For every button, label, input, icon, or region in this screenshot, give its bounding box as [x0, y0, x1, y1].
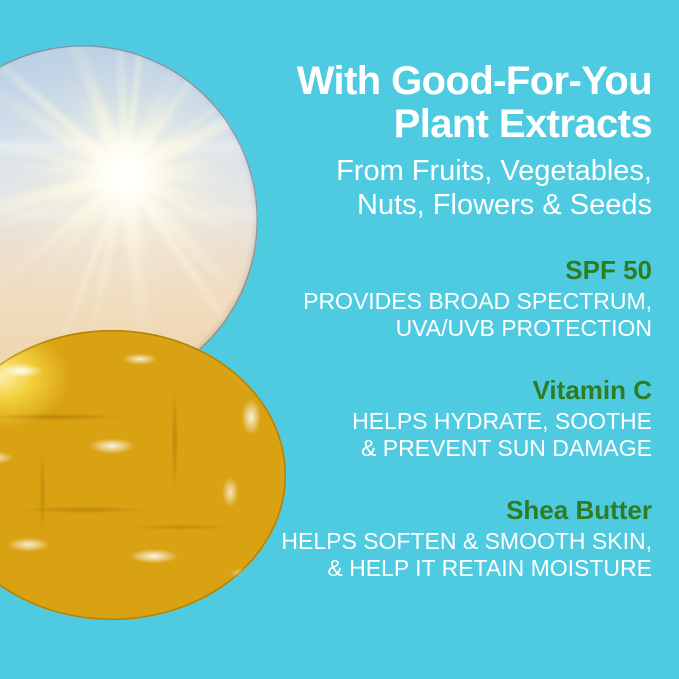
headline: With Good-For-You Plant Extracts — [260, 0, 652, 146]
subheadline-line-2: Nuts, Flowers & Seeds — [260, 189, 652, 223]
feature-spf-50: SPF 50 PROVIDES BROAD SPECTRUM, UVA/UVB … — [260, 256, 652, 342]
feature-title-shea-butter: Shea Butter — [260, 496, 652, 525]
feature-desc-line-2: & HELP IT RETAIN MOISTURE — [260, 555, 652, 582]
feature-title-vitamin-c: Vitamin C — [260, 376, 652, 405]
text-column: With Good-For-You Plant Extracts From Fr… — [260, 0, 652, 679]
feature-desc-line-1: HELPS SOFTEN & SMOOTH SKIN, — [260, 528, 652, 555]
feature-desc-line-2: & PREVENT SUN DAMAGE — [260, 435, 652, 462]
feature-shea-butter: Shea Butter HELPS SOFTEN & SMOOTH SKIN, … — [260, 496, 652, 582]
feature-description-shea-butter: HELPS SOFTEN & SMOOTH SKIN, & HELP IT RE… — [260, 528, 652, 582]
feature-desc-line-1: HELPS HYDRATE, SOOTHE — [260, 408, 652, 435]
product-feature-panel: With Good-For-You Plant Extracts From Fr… — [0, 0, 679, 679]
sun-core-glow — [0, 45, 258, 325]
feature-description-spf-50: PROVIDES BROAD SPECTRUM, UVA/UVB PROTECT… — [260, 288, 652, 342]
subheadline-line-1: From Fruits, Vegetables, — [260, 155, 652, 189]
headline-line-2: Plant Extracts — [260, 103, 652, 146]
feature-desc-line-2: UVA/UVB PROTECTION — [260, 315, 652, 342]
subheadline: From Fruits, Vegetables, Nuts, Flowers &… — [260, 155, 652, 223]
golden-softgel-capsules-circle — [0, 330, 286, 620]
feature-description-vitamin-c: HELPS HYDRATE, SOOTHE & PREVENT SUN DAMA… — [260, 408, 652, 462]
feature-desc-line-1: PROVIDES BROAD SPECTRUM, — [260, 288, 652, 315]
feature-vitamin-c: Vitamin C HELPS HYDRATE, SOOTHE & PREVEN… — [260, 376, 652, 462]
feature-title-spf-50: SPF 50 — [260, 256, 652, 285]
capsules-highlights — [0, 330, 286, 620]
headline-line-1: With Good-For-You — [260, 60, 652, 103]
